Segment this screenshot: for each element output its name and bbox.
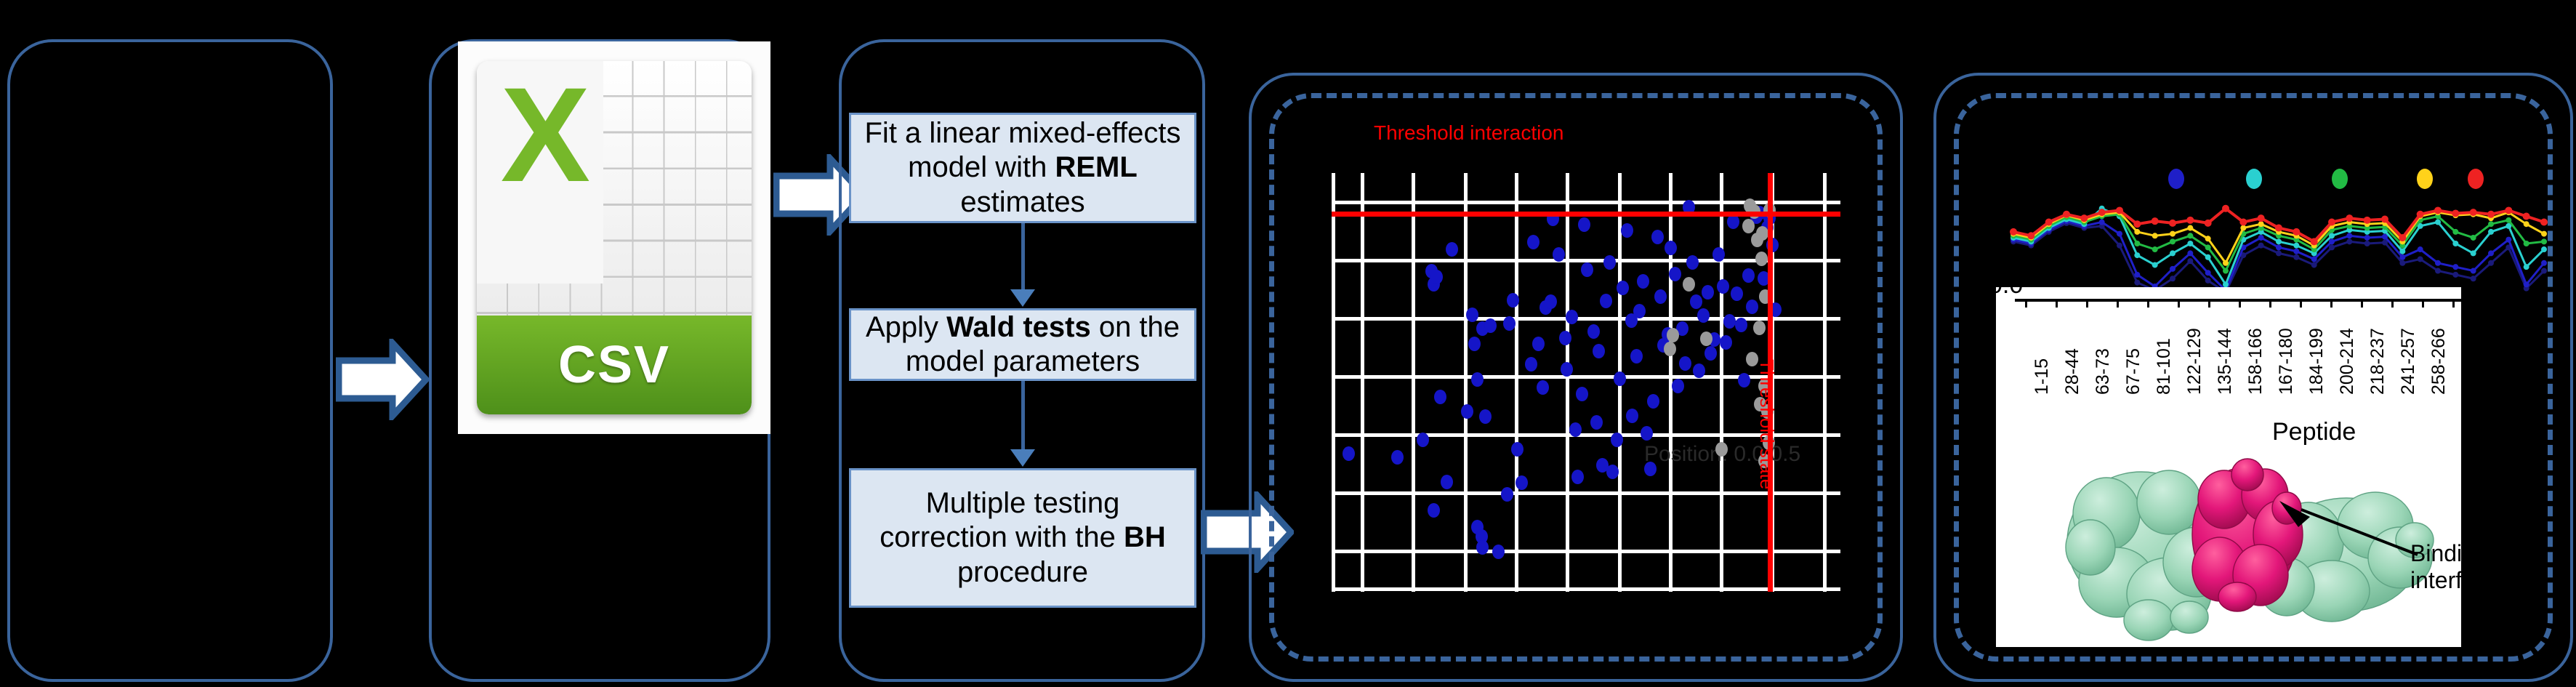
peptide-profile-line-chart [1992,186,2566,297]
peptide-axis-tick [2208,299,2210,308]
line-marker [2170,238,2175,244]
peptide-axis-tick [2452,299,2455,308]
peptide-axis-tick [2239,299,2241,308]
csv-band-label: CSV [477,316,752,414]
peptide-tick-label: 258-266 [2428,328,2450,395]
line-marker [2329,244,2335,250]
fit-model-text-c: estimates [960,186,1084,218]
scatter-point [1511,442,1524,457]
scatter-point [1641,426,1653,441]
scatter-point [1484,318,1497,333]
threshold-state-label: Threshold state [1755,359,1778,489]
scatter-point [1566,310,1578,324]
line-marker [2222,205,2229,212]
line-marker [2169,220,2176,227]
scatter-point [1434,390,1446,404]
scatter-point [1690,294,1702,309]
scatter-point [1545,294,1557,309]
line-marker [2205,220,2212,227]
scatter-point [1621,223,1633,238]
scatter-point [1717,279,1729,294]
peptide-axis-tick [2391,299,2394,308]
peptide-tick-label: 218-237 [2367,328,2388,395]
line-marker [2346,233,2352,238]
line-marker [2488,260,2494,266]
line-marker [2505,237,2511,243]
scatter-point [1742,268,1755,283]
scatter-point [1702,285,1714,300]
line-marker [2205,270,2211,276]
scatter-point [1630,349,1643,363]
line-marker [2540,219,2548,226]
line-marker [2471,235,2476,241]
scatter-point [1600,294,1612,308]
fit-model-box: Fit a linear mixed-effects model with RE… [849,113,1196,223]
line-marker [2133,220,2141,228]
line-marker [2471,276,2476,281]
line-marker [2523,212,2530,220]
line-marker [2170,250,2175,256]
scatter-point [1664,342,1676,356]
line-marker [2187,241,2193,246]
line-marker [2311,256,2317,262]
figure-canvas: X CSV Fit a linear mixed-effects model w… [0,0,2576,687]
peptide-tick-label: 122-129 [2184,328,2205,395]
line-marker [2170,266,2175,272]
scatter-point [1553,247,1565,262]
line-marker [2488,250,2494,256]
scatter-point [1578,217,1590,232]
peptide-protein-inset: 0.0 1-1528-4463-7367-7581-101122-129135-… [1996,287,2461,647]
line-marker [2293,254,2299,260]
scatter-point [1507,293,1519,308]
scatter-point [1669,267,1681,281]
connector-box1-box2 [1021,223,1025,293]
peptide-tick-label: 277-284 [2459,328,2461,395]
scatter-point [1751,233,1763,247]
line-marker [2187,250,2193,256]
peptide-axis-tick [2086,299,2088,308]
scatter-plot-area: Position: 0.0 0.5 Threshold state [1332,173,1840,592]
line-marker [2487,211,2495,218]
line-marker [2364,235,2370,241]
line-marker [2399,249,2405,254]
excel-x-letter: X [482,68,608,294]
line-marker [2488,221,2494,227]
line-marker [2276,244,2282,250]
line-marker [2452,241,2458,246]
scatter-point [1735,318,1747,332]
line-marker [2293,228,2300,236]
line-marker [2471,250,2476,256]
line-marker [2524,264,2529,270]
scatter-point [1693,363,1705,378]
scatter-point [1686,255,1699,270]
peptide-tick-label: 28-44 [2062,348,2083,395]
line-marker [2134,241,2140,246]
scatter-point [1617,281,1629,295]
peptide-tick-label: 200-214 [2337,328,2358,395]
line-marker [2452,209,2459,217]
scatter-point [1479,409,1492,424]
wald-tests-box: Apply Wald tests on the model parameters [849,308,1196,381]
line-marker [2152,262,2158,268]
peptide-axis-tick [2025,299,2027,308]
scatter-point [1731,286,1743,301]
line-marker [2399,254,2405,260]
scatter-point [1343,446,1355,461]
line-marker [2311,238,2318,245]
line-marker [2435,268,2441,274]
scatter-point [1667,328,1679,342]
line-marker [2471,268,2476,274]
line-marker [2187,233,2193,238]
scatter-point [1606,465,1619,479]
line-marker [2205,278,2211,284]
bh-text-b: BH [1124,521,1166,553]
scatter-point [1525,357,1537,371]
scatter-point [1723,314,1736,329]
line-marker [2098,209,2106,216]
scatter-point [1697,308,1710,323]
scatter-point [1590,415,1603,430]
line-marker [2435,220,2441,225]
scatter-point [1611,433,1623,447]
line-marker [2418,246,2423,252]
connector-box1-box2-arrowhead [1010,289,1035,307]
peptide-axis-tick [2422,299,2424,308]
scatter-point [1626,409,1638,423]
scatter-point [1466,308,1478,322]
peptide-tick-label: 67-75 [2123,348,2144,395]
threshold-scatter-chart: Threshold interaction Posi [1308,154,1861,619]
line-marker [2541,268,2547,274]
scatter-point [1651,230,1664,244]
line-marker [2223,268,2229,274]
arrow-1-to-2 [336,339,429,420]
scatter-point [1492,545,1505,559]
line-marker [2134,252,2140,258]
scatter-point [1501,487,1513,502]
line-marker [2134,272,2140,278]
peptide-axis-tick [2147,299,2149,308]
line-marker [2381,216,2388,223]
line-marker [2080,214,2088,222]
scatter-point [1516,475,1528,490]
scatter-point [1644,462,1657,476]
scatter-point [1679,356,1691,371]
line-marker [2258,235,2264,241]
line-marker [2434,206,2442,214]
line-marker [2187,258,2193,264]
scatter-point [1633,304,1646,318]
line-marker [2293,249,2299,254]
scatter-point [1571,470,1584,484]
scatter-point [1712,247,1725,262]
line-marker [2117,243,2122,249]
bh-text-c: procedure [957,556,1088,588]
line-marker [2152,246,2158,252]
line-marker [2346,238,2352,244]
scatter-point [1587,324,1600,339]
scatter-point [1569,422,1582,437]
line-marker [2186,217,2194,224]
scatter-point [1527,235,1539,249]
line-marker [2418,256,2423,262]
line-marker [2117,231,2122,237]
line-marker [2258,214,2265,222]
line-marker [2311,262,2317,268]
line-marker [2134,229,2140,235]
scatter-point [1537,380,1549,395]
line-marker [2417,211,2424,218]
line-marker [2010,228,2017,236]
line-marker [2205,236,2211,241]
scatter-point [1738,373,1750,387]
line-marker [2364,241,2370,246]
line-marker [2329,238,2335,244]
binding-interface-label: Binding interface [2410,540,2461,594]
scatter-point [1417,433,1429,447]
line-marker [2045,219,2053,226]
line-marker [2276,250,2282,256]
panel-1-container [7,39,333,682]
binding-interface-label-line1: Binding [2410,540,2461,567]
scatter-point [1672,379,1684,393]
line-marker [2541,238,2547,244]
peptide-tick-label: 167-180 [2276,328,2297,395]
threshold-interaction-line [1332,212,1840,217]
scatter-point [1593,344,1605,358]
peptide-tick-label: 1-15 [2032,358,2053,395]
line-marker [2452,264,2458,270]
scatter-point [1715,442,1728,457]
binding-interface-arrow [2272,498,2425,563]
line-marker [2541,246,2547,252]
line-marker [2170,276,2175,281]
line-marker [2152,217,2159,225]
peptide-axis-tick [2117,299,2119,308]
scatter-point [1468,337,1481,351]
line-marker [2223,260,2229,266]
scatter-point [1647,394,1659,409]
line-marker [2134,280,2140,286]
scatter-point [1561,362,1573,377]
fit-model-text-b: REML [1055,151,1137,183]
scatter-point [1746,300,1758,314]
line-marker [2435,260,2441,266]
scatter-point [1753,321,1766,335]
line-marker [2470,209,2477,216]
scatter-point [1441,475,1453,489]
line-marker [2452,229,2458,235]
line-marker [2205,254,2211,260]
peptide-tick-label: 81-101 [2154,338,2175,395]
scatter-point [1581,262,1593,277]
line-marker [2170,231,2175,237]
line-marker [2116,206,2123,214]
scatter-point [1704,346,1717,361]
wald-text-a: Apply [866,311,946,343]
line-marker [2152,233,2158,238]
line-marker [2488,229,2494,235]
line-marker [2541,231,2547,237]
line-marker [2524,221,2529,227]
line-marker [2399,234,2406,241]
line-marker [2364,217,2371,224]
line-marker [2399,260,2405,266]
scatter-point [1755,252,1768,266]
line-marker [2258,243,2264,249]
line-marker [2187,225,2193,231]
scatter-point [1391,450,1404,465]
scatter-point [1461,404,1473,419]
line-marker [2027,232,2034,239]
line-marker [2524,241,2529,246]
scatter-point [1742,219,1755,233]
scatter-point [1683,277,1695,292]
line-marker [2205,244,2211,250]
line-marker [2258,221,2264,227]
csv-icon-wrapper: X CSV [458,41,770,434]
line-marker [2293,243,2299,249]
scatter-title: Threshold interaction [1374,121,1563,145]
line-marker [2524,281,2529,287]
line-marker [2240,225,2246,231]
line-marker [2239,219,2247,226]
wald-text-b: Wald tests [946,311,1091,343]
line-marker [2063,211,2070,218]
peptide-axis-tick [2269,299,2271,308]
connector-box2-box3 [1021,381,1025,451]
peptide-tick-label: 135-144 [2215,328,2236,395]
scatter-point [1471,372,1484,387]
line-marker [2541,260,2547,266]
scatter-point [1637,274,1649,289]
line-marker [2276,238,2282,244]
peptide-tick-label: 241-257 [2398,328,2419,395]
scatter-point [1428,503,1440,518]
line-marker [2505,206,2512,214]
peptide-tick-label: 158-166 [2245,328,2266,395]
line-marker [2099,220,2105,225]
line-marker [2275,225,2282,232]
peptide-axis-tick [2361,299,2363,308]
scatter-point [1559,331,1571,345]
peptide-axis-tick [2330,299,2333,308]
scatter-point [1532,337,1545,351]
peptide-axis-tick [2056,299,2058,308]
scatter-point [1665,241,1677,255]
connector-box2-box3-arrowhead [1010,449,1035,467]
scatter-point [1576,387,1588,401]
scatter-point [1446,242,1458,257]
scatter-point [1603,255,1616,270]
csv-card: X CSV [477,61,752,414]
peptide-tick-label: 63-73 [2093,348,2114,395]
peptide-axis-tick [2300,299,2302,308]
scatter-point [1476,540,1489,555]
line-marker [2452,272,2458,278]
peptide-tick-label: 184-199 [2306,328,2327,395]
peptide-axis-tick [2178,299,2180,308]
binding-interface-label-line2: interface [2410,567,2461,594]
scatter-point [1503,316,1516,331]
line-marker [2346,214,2353,222]
scatter-point [1430,270,1443,284]
bh-correction-box: Multiple testing correction with the BH … [849,468,1196,608]
bh-text-a: Multiple testing correction with the [880,487,1124,553]
scatter-point [1654,289,1667,304]
line-marker [2505,217,2511,223]
line-marker [2328,219,2335,226]
scatter-point [1614,371,1626,386]
scatter-point [1720,335,1732,350]
